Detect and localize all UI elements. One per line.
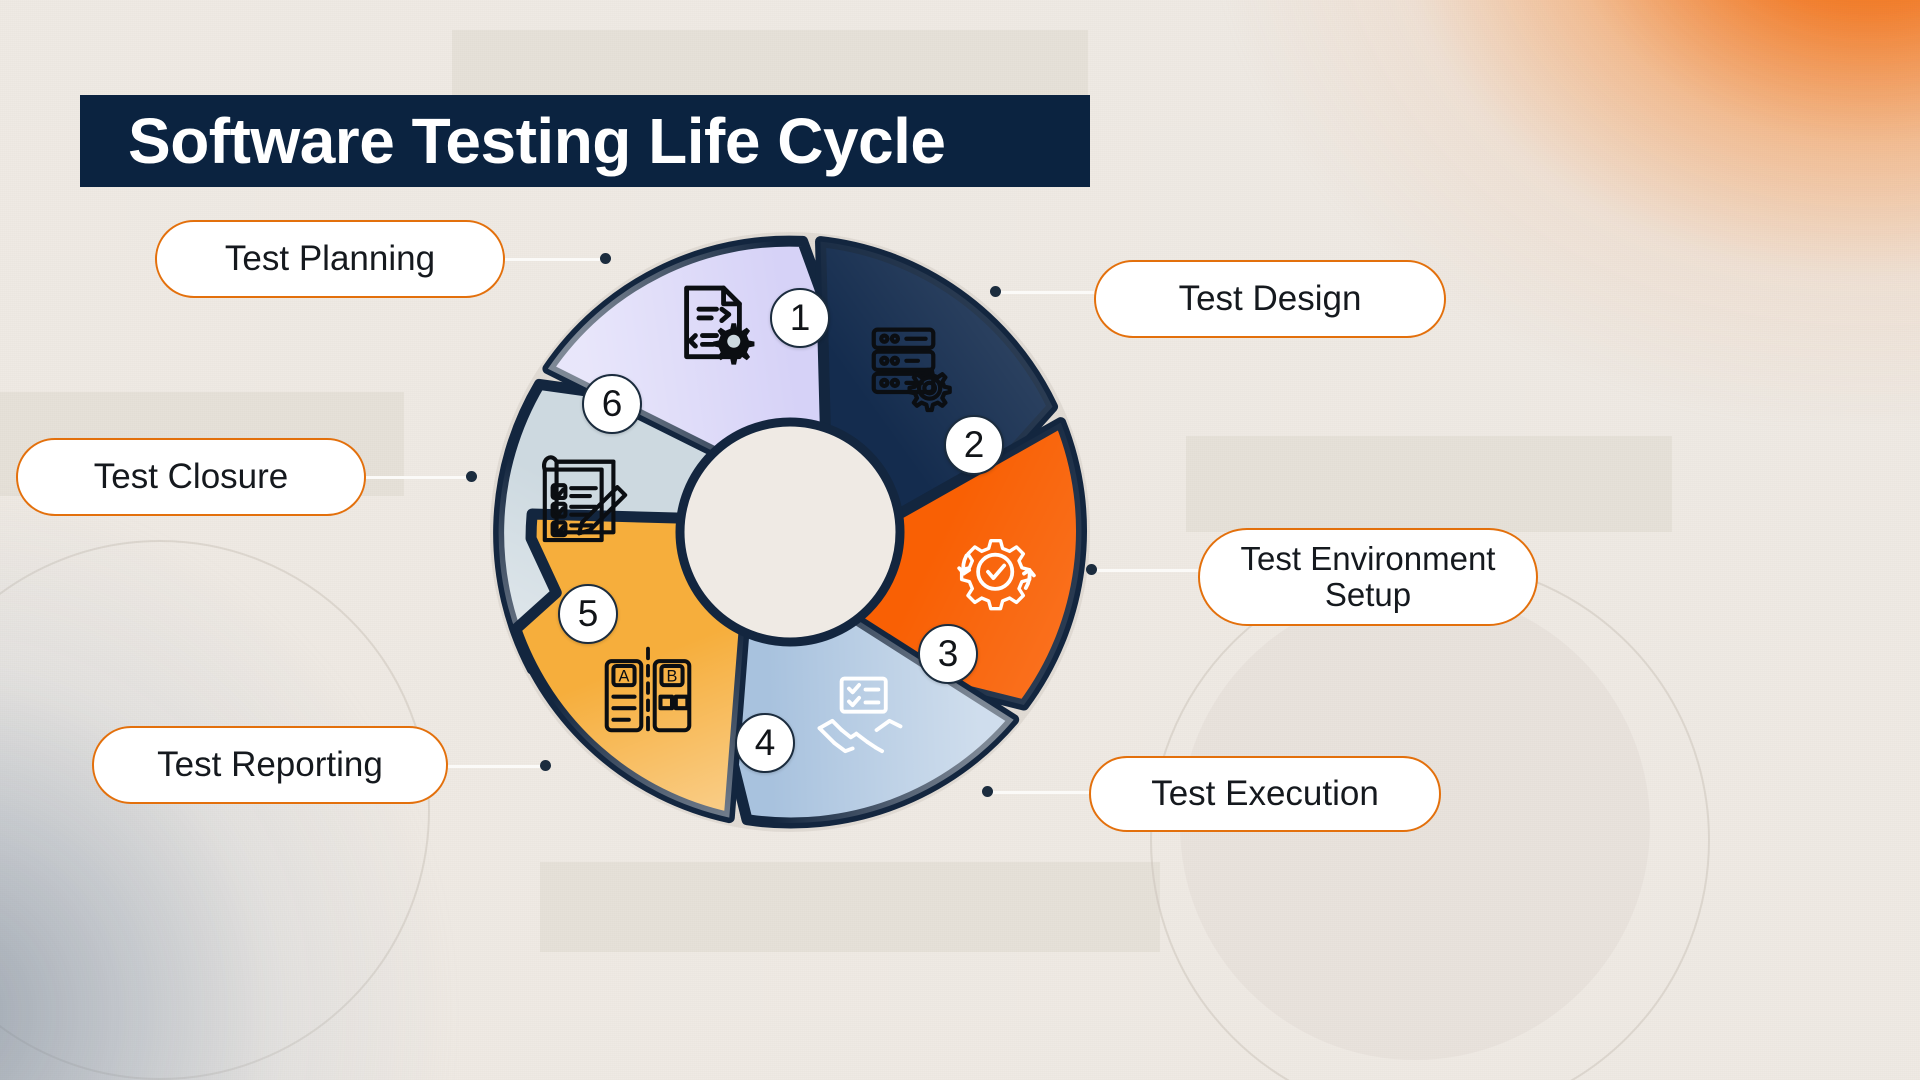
bg-panel-bottom [540, 862, 1160, 952]
title-bar: Software Testing Life Cycle [80, 95, 1090, 187]
handshake-checklist-icon [814, 673, 906, 765]
document-gear-icon [669, 281, 757, 369]
label-test-closure[interactable]: Test Closure [16, 438, 366, 516]
page-title: Software Testing Life Cycle [128, 104, 946, 178]
connector-dot-test-design [990, 286, 1001, 297]
connector-dot-test-environment-setup [1086, 564, 1097, 575]
connector-dot-test-planning [600, 253, 611, 264]
label-test-planning[interactable]: Test Planning [155, 220, 505, 298]
infographic-canvas: Software Testing Life Cycle [0, 0, 1920, 1080]
donut-hole [680, 422, 900, 642]
segment-number-1[interactable]: 1 [770, 288, 830, 348]
label-test-environment-setup[interactable]: Test Environment Setup [1198, 528, 1538, 626]
bg-panel-right [1186, 436, 1672, 532]
label-test-execution[interactable]: Test Execution [1089, 756, 1441, 832]
segment-number-4[interactable]: 4 [735, 713, 795, 773]
connector-dot-test-execution [982, 786, 993, 797]
label-test-reporting[interactable]: Test Reporting [92, 726, 448, 804]
segment-number-3[interactable]: 3 [918, 624, 978, 684]
connector-line-test-design [994, 291, 1094, 294]
segment-number-5[interactable]: 5 [558, 584, 618, 644]
server-gear-icon [868, 320, 964, 416]
bg-ring-left [0, 540, 430, 1080]
connector-line-test-environment-setup [1090, 569, 1198, 572]
svg-text:B: B [667, 667, 678, 685]
connector-line-test-reporting [448, 765, 548, 768]
segment-number-6[interactable]: 6 [582, 374, 642, 434]
connector-line-test-planning [505, 258, 609, 261]
segment-number-2[interactable]: 2 [944, 415, 1004, 475]
checklist-pencil-icon [535, 448, 633, 546]
label-test-design[interactable]: Test Design [1094, 260, 1446, 338]
connector-dot-test-reporting [540, 760, 551, 771]
ab-comparison-icon: A B [600, 641, 696, 737]
connector-line-test-closure [366, 476, 476, 479]
gear-check-refresh-icon [952, 525, 1042, 615]
bg-glow-orange [1220, 0, 1920, 420]
svg-text:A: A [619, 667, 630, 685]
connector-line-test-execution [986, 791, 1089, 794]
connector-dot-test-closure [466, 471, 477, 482]
